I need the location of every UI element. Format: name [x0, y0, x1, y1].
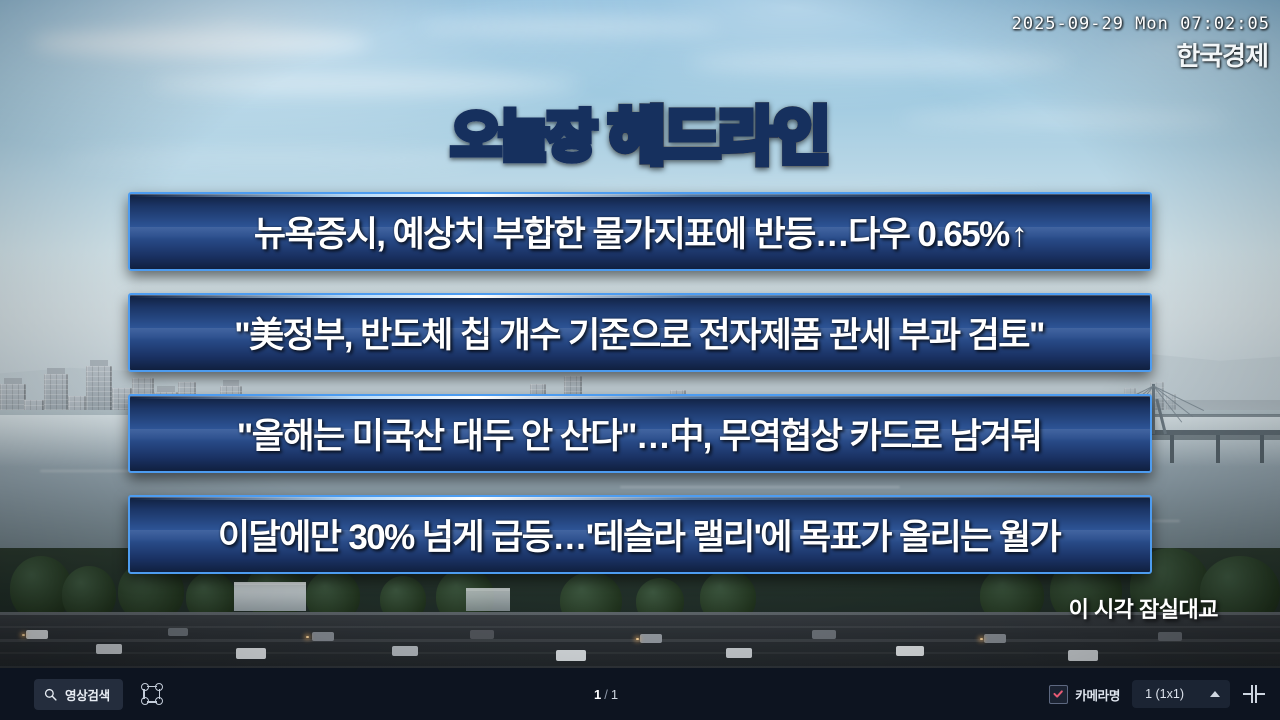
vehicle: [812, 630, 836, 639]
headline-text: 이달에만 30% 넘게 급등…'테슬라 랠리'에 목표가 올리는 월가: [218, 509, 1062, 560]
broadcast-viewer: 2025-09-29 Mon 07:02:05 한국경제 오늘장헤드라인 뉴욕증…: [0, 0, 1280, 720]
layout-value: 1 (1x1): [1145, 687, 1184, 701]
camera-name-toggle[interactable]: 카메라명: [1049, 685, 1120, 704]
up-arrow-icon: ↑: [1011, 216, 1026, 254]
headline-bar[interactable]: "美정부, 반도체 칩 개수 기준으로 전자제품 관세 부과 검토": [128, 293, 1152, 372]
toolbar-right-group: 카메라명 1 (1x1): [1049, 680, 1280, 708]
vehicle: [556, 650, 586, 661]
headline-text: "美정부, 반도체 칩 개수 기준으로 전자제품 관세 부과 검토": [234, 307, 1046, 358]
vehicle: [470, 630, 494, 639]
chevron-up-icon: [1210, 691, 1220, 697]
headline-bar[interactable]: "올해는 미국산 대두 안 산다"…中, 무역협상 카드로 남겨둬: [128, 394, 1152, 473]
vehicle: [96, 644, 122, 654]
page-separator: /: [604, 687, 608, 702]
cloud: [690, 52, 1070, 74]
broadcaster-logo: 한국경제: [1176, 36, 1268, 73]
page-total: 1: [611, 687, 618, 702]
headline-bar[interactable]: 뉴욕증시, 예상치 부합한 물가지표에 반등…다우 0.65%↑: [128, 192, 1152, 271]
vehicle: [168, 628, 188, 636]
page-title: 오늘장헤드라인: [0, 86, 1280, 176]
page-indicator: 1/1: [163, 687, 1049, 702]
headline-bar[interactable]: 이달에만 30% 넘게 급등…'테슬라 랠리'에 목표가 올리는 월가: [128, 495, 1152, 574]
vehicle: [1158, 632, 1182, 641]
region-select-icon[interactable]: [141, 683, 163, 705]
headline-text: 뉴욕증시, 예상치 부합한 물가지표에 반등…다우 0.65%↑: [254, 206, 1026, 257]
camera-name-label: 카메라명: [1075, 685, 1120, 704]
vehicle: [312, 632, 334, 641]
vehicle: [392, 646, 418, 656]
vehicle: [640, 634, 662, 643]
headline-text: "올해는 미국산 대두 안 산다"…中, 무역협상 카드로 남겨둬: [237, 408, 1043, 459]
title-main: 헤드라인: [608, 86, 828, 176]
fit-screen-icon[interactable]: [1242, 684, 1266, 704]
osd-timestamp: 2025-09-29 Mon 07:02:05: [1012, 14, 1270, 34]
cloud: [30, 30, 370, 56]
page-current: 1: [594, 687, 601, 702]
layout-dropdown[interactable]: 1 (1x1): [1132, 680, 1230, 708]
headline-list: 뉴욕증시, 예상치 부합한 물가지표에 반등…다우 0.65%↑ "美정부, 반…: [128, 192, 1152, 596]
vehicle: [26, 630, 48, 639]
vehicle: [896, 646, 924, 656]
vehicle: [984, 634, 1006, 643]
vehicle: [236, 648, 266, 659]
checkbox-checked-icon[interactable]: [1049, 685, 1068, 704]
toolbar-left-group: 영상검색: [0, 679, 163, 710]
search-icon: [44, 688, 57, 701]
cloud: [420, 18, 720, 36]
location-caption: 이 시각 잠실대교: [1069, 592, 1218, 624]
video-search-button[interactable]: 영상검색: [34, 679, 123, 710]
vehicle: [726, 648, 752, 658]
title-prefix: 오늘장: [451, 92, 594, 171]
player-toolbar: 영상검색 1/1 카메라명 1 (1x1): [0, 668, 1280, 720]
vehicle: [1068, 650, 1098, 661]
video-search-label: 영상검색: [65, 685, 110, 704]
